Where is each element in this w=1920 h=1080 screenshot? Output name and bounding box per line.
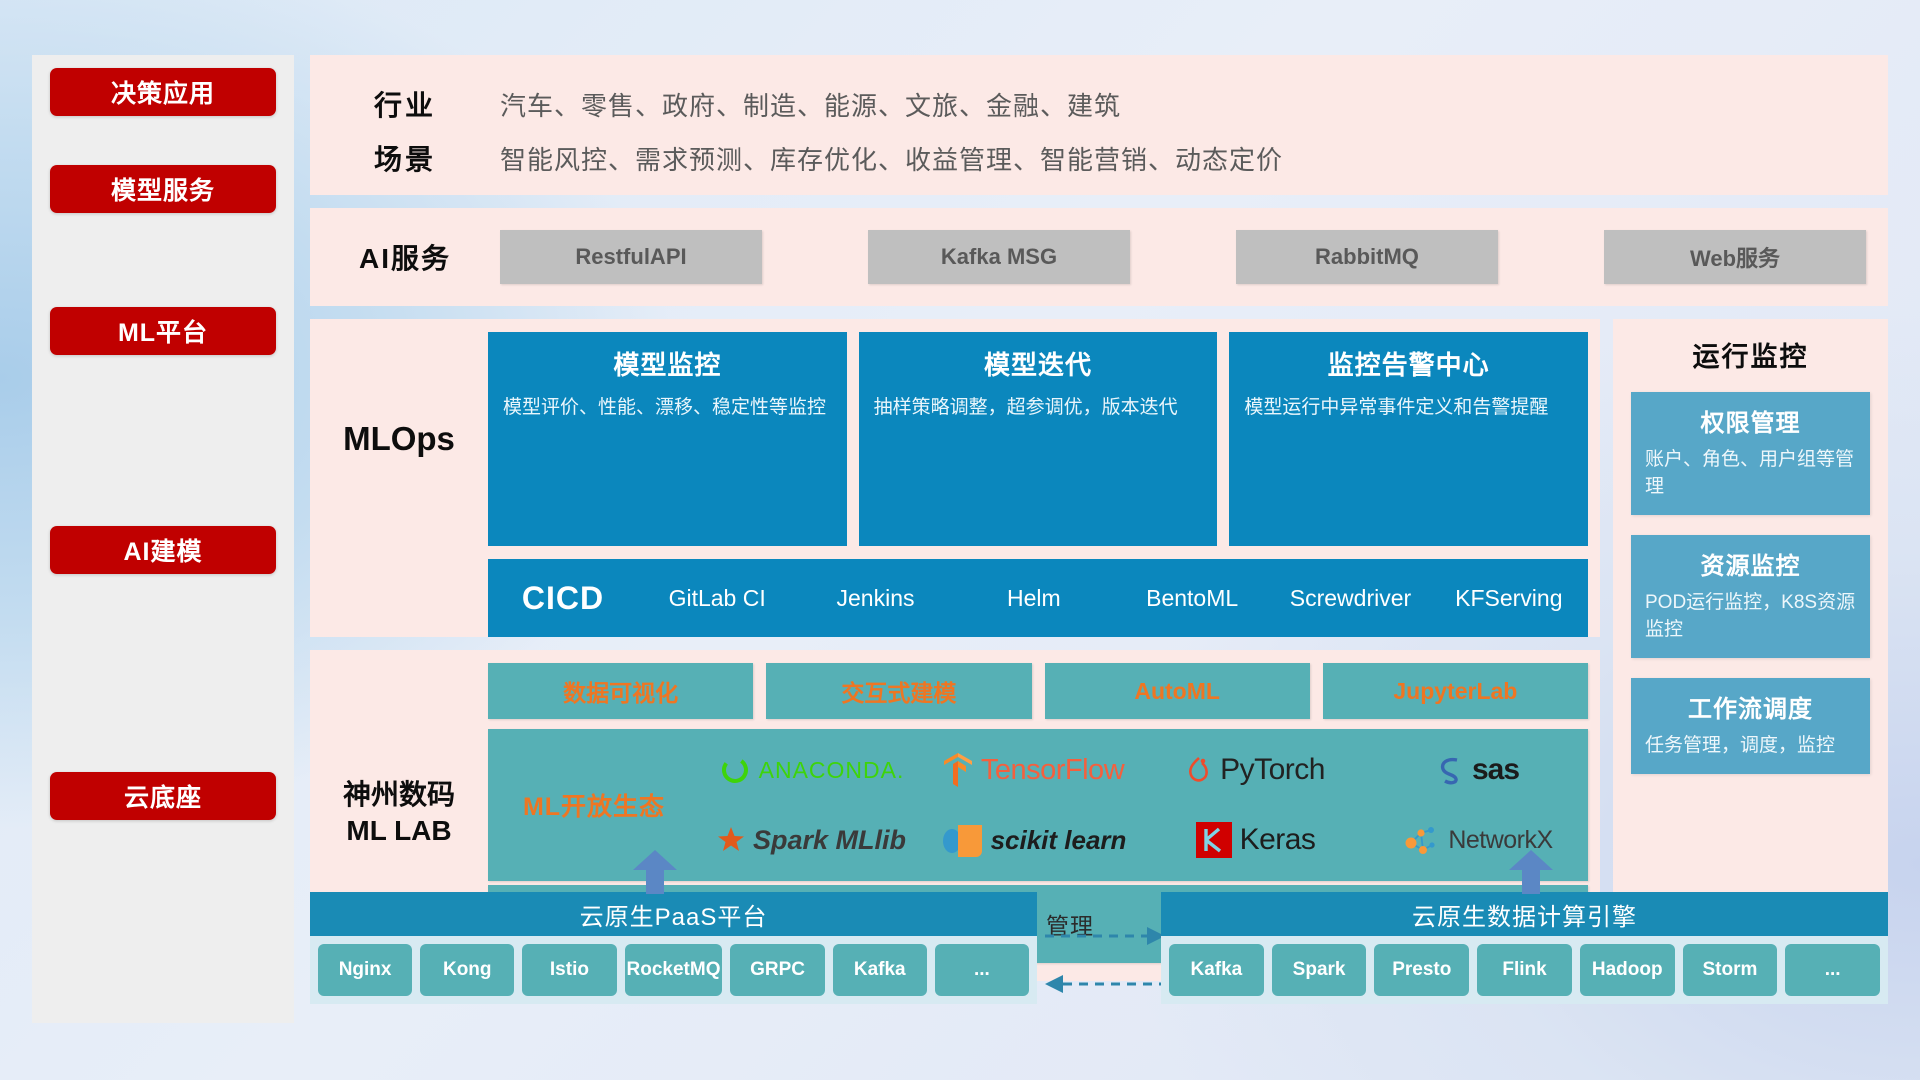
ai-service-chip-restfulapi[interactable]: RestfulAPI [500, 230, 762, 284]
ai-services-band: AI服务 RestfulAPI Kafka MSG RabbitMQ Web服务 [310, 208, 1888, 306]
bidirectional-dashed-arrow-icon [1043, 914, 1167, 1014]
monitor-card-permission[interactable]: 权限管理 账户、角色、用户组等管理 [1631, 392, 1870, 515]
paas-chip-rocketmq[interactable]: RocketMQ [625, 944, 723, 996]
ml-lab-label-line2: ML LAB [346, 813, 451, 849]
mlops-card-model-monitor[interactable]: 模型监控 模型评价、性能、漂移、稳定性等监控 [488, 332, 847, 546]
compute-engine-column: 云原生数据计算引擎 Kafka Spark Presto Flink Hadoo… [1161, 892, 1888, 1032]
cicd-item-screwdriver[interactable]: Screwdriver [1271, 585, 1429, 611]
ml-ecosystem-logos: ANACONDA. TensorFlow [700, 735, 1588, 875]
compute-chip-more[interactable]: ... [1785, 944, 1880, 996]
stage-rail: 决策应用 模型服务 ML平台 AI建模 云底座 [32, 55, 294, 1023]
runtime-monitor-title: 运行监控 [1631, 335, 1870, 374]
compute-chip-storm[interactable]: Storm [1683, 944, 1778, 996]
pytorch-logo: PyTorch [1144, 753, 1366, 787]
tool-box-jupyterlab[interactable]: JupyterLab [1323, 663, 1588, 719]
stage-pill-model-service[interactable]: 模型服务 [50, 165, 276, 213]
compute-engine-title: 云原生数据计算引擎 [1161, 892, 1888, 936]
tensorflow-logo: TensorFlow [922, 751, 1144, 789]
paas-chip-kong[interactable]: Kong [420, 944, 514, 996]
logo-line-1: ANACONDA. TensorFlow [700, 735, 1588, 805]
compute-chip-flink[interactable]: Flink [1477, 944, 1572, 996]
ml-lab-tool-row: 数据可视化 交互式建模 AutoML JupyterLab [488, 663, 1588, 719]
mlops-label: MLOps [310, 332, 488, 546]
keras-logo: Keras [1144, 821, 1366, 859]
mlops-cards-row: MLOps 模型监控 模型评价、性能、漂移、稳定性等监控 模型迭代 抽样策略调整… [310, 319, 1600, 559]
cicd-item-helm[interactable]: Helm [955, 585, 1113, 611]
cicd-title: CICD [488, 580, 638, 617]
mlops-card-desc: 抽样策略调整，超参调优，版本迭代 [874, 394, 1203, 422]
sas-logo: sas [1366, 753, 1588, 787]
tool-box-interactive-modeling[interactable]: 交互式建模 [766, 663, 1031, 719]
monitor-card-resource[interactable]: 资源监控 POD运行监控，K8S资源监控 [1631, 535, 1870, 658]
ai-service-chip-rabbitmq[interactable]: RabbitMQ [1236, 230, 1498, 284]
ml-ecosystem-label: ML开放生态 [488, 787, 700, 823]
ai-services-label: AI服务 [310, 237, 500, 277]
monitor-card-title: 工作流调度 [1645, 689, 1856, 724]
stage-pill-cloud-base[interactable]: 云底座 [50, 772, 276, 820]
mlops-band: MLOps 模型监控 模型评价、性能、漂移、稳定性等监控 模型迭代 抽样策略调整… [310, 319, 1600, 637]
tool-box-data-visualization[interactable]: 数据可视化 [488, 663, 753, 719]
paas-title: 云原生PaaS平台 [310, 892, 1037, 936]
paas-chip-kafka[interactable]: Kafka [833, 944, 927, 996]
paas-chip-istio[interactable]: Istio [522, 944, 616, 996]
scenario-row: 场景 智能风控、需求预测、库存优化、收益管理、智能营销、动态定价 [310, 131, 1888, 185]
spark-mllib-logo-text: Spark MLlib [753, 825, 906, 856]
industry-value: 汽车、零售、政府、制造、能源、文旅、金融、建筑 [500, 86, 1121, 123]
paas-chip-more[interactable]: ... [935, 944, 1029, 996]
stage-pill-decision-app[interactable]: 决策应用 [50, 68, 276, 116]
ai-service-chip-kafka-msg[interactable]: Kafka MSG [868, 230, 1130, 284]
compute-chip-spark[interactable]: Spark [1272, 944, 1367, 996]
ai-services-chip-list: RestfulAPI Kafka MSG RabbitMQ Web服务 [500, 230, 1888, 284]
mlops-card-desc: 模型运行中异常事件定义和告警提醒 [1244, 394, 1573, 422]
anaconda-logo-text: ANACONDA. [759, 757, 905, 784]
sas-logo-text: sas [1472, 753, 1519, 787]
mlops-card-title: 监控告警中心 [1244, 345, 1573, 382]
logo-line-2: Spark MLlib scikit learn [700, 805, 1588, 875]
mlops-card-model-iteration[interactable]: 模型迭代 抽样策略调整，超参调优，版本迭代 [859, 332, 1218, 546]
cicd-item-bentoml[interactable]: BentoML [1113, 585, 1271, 611]
anaconda-logo: ANACONDA. [700, 753, 922, 787]
spark-mllib-logo: Spark MLlib [700, 825, 922, 856]
paas-chip-list: Nginx Kong Istio RocketMQ GRPC Kafka ... [310, 936, 1037, 1004]
architecture-main: 行业 汽车、零售、政府、制造、能源、文旅、金融、建筑 场景 智能风控、需求预测、… [310, 55, 1888, 994]
applications-band: 行业 汽车、零售、政府、制造、能源、文旅、金融、建筑 场景 智能风控、需求预测、… [310, 55, 1888, 195]
mlops-card-alert-center[interactable]: 监控告警中心 模型运行中异常事件定义和告警提醒 [1229, 332, 1588, 546]
ai-service-chip-web[interactable]: Web服务 [1604, 230, 1866, 284]
monitor-card-workflow[interactable]: 工作流调度 任务管理，调度，监控 [1631, 678, 1870, 774]
monitor-card-title: 资源监控 [1645, 546, 1856, 581]
compute-chip-presto[interactable]: Presto [1374, 944, 1469, 996]
cicd-item-list: GitLab CI Jenkins Helm BentoML Screwdriv… [638, 585, 1588, 611]
stage-pill-ml-platform[interactable]: ML平台 [50, 307, 276, 355]
ml-lab-label-line1: 神州数码 [343, 777, 455, 813]
industry-label: 行业 [310, 84, 500, 124]
cicd-item-kfserving[interactable]: KFServing [1430, 585, 1588, 611]
mlops-card-title: 模型迭代 [874, 345, 1203, 382]
compute-chip-list: Kafka Spark Presto Flink Hadoop Storm ..… [1161, 936, 1888, 1004]
industry-row: 行业 汽车、零售、政府、制造、能源、文旅、金融、建筑 [310, 77, 1888, 131]
scenario-label: 场景 [310, 138, 500, 178]
paas-column: 云原生PaaS平台 Nginx Kong Istio RocketMQ GRPC… [310, 892, 1037, 1032]
monitor-card-desc: 任务管理，调度，监控 [1645, 733, 1856, 760]
keras-logo-text: Keras [1240, 823, 1316, 857]
compute-chip-hadoop[interactable]: Hadoop [1580, 944, 1675, 996]
stage-pill-ai-modeling[interactable]: AI建模 [50, 526, 276, 574]
monitor-card-title: 权限管理 [1645, 403, 1856, 438]
paas-up-arrow-icon [630, 850, 680, 894]
cicd-bar: CICD GitLab CI Jenkins Helm BentoML Scre… [488, 559, 1588, 637]
cicd-item-gitlab-ci[interactable]: GitLab CI [638, 585, 796, 611]
scikit-learn-logo-text: scikit learn [991, 825, 1127, 856]
scenario-value: 智能风控、需求预测、库存优化、收益管理、智能营销、动态定价 [500, 140, 1283, 177]
paas-chip-nginx[interactable]: Nginx [318, 944, 412, 996]
paas-chip-grpc[interactable]: GRPC [730, 944, 824, 996]
scikit-learn-logo: scikit learn [922, 820, 1144, 860]
mlops-card-title: 模型监控 [503, 345, 832, 382]
tool-box-automl[interactable]: AutoML [1045, 663, 1310, 719]
compute-up-arrow-icon [1506, 850, 1556, 894]
monitor-card-desc: POD运行监控，K8S资源监控 [1645, 590, 1856, 644]
tensorflow-logo-text: TensorFlow [981, 754, 1124, 787]
cloud-foundation-section: 云原生PaaS平台 Nginx Kong Istio RocketMQ GRPC… [310, 892, 1888, 1032]
cloud-link-arrows [1037, 892, 1161, 1032]
compute-chip-kafka[interactable]: Kafka [1169, 944, 1264, 996]
monitor-card-desc: 账户、角色、用户组等管理 [1645, 447, 1856, 501]
pytorch-logo-text: PyTorch [1220, 753, 1325, 787]
mlops-card-list: 模型监控 模型评价、性能、漂移、稳定性等监控 模型迭代 抽样策略调整，超参调优，… [488, 332, 1600, 546]
cicd-item-jenkins[interactable]: Jenkins [796, 585, 954, 611]
mlops-card-desc: 模型评价、性能、漂移、稳定性等监控 [503, 394, 832, 422]
